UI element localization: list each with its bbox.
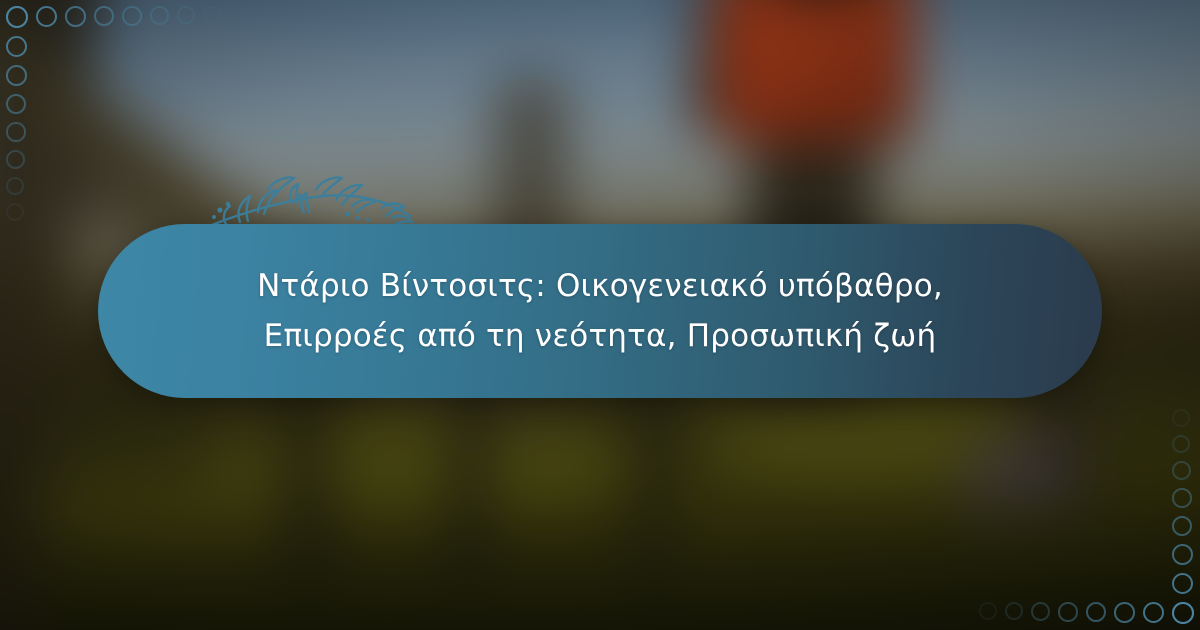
- circle-outline-icon: [177, 6, 195, 24]
- dots-left-column: [6, 6, 28, 221]
- circle-outline-icon: [1005, 602, 1023, 620]
- circle-outline-icon: [6, 122, 26, 142]
- circle-outline-icon: [1172, 435, 1190, 453]
- circle-outline-icon: [6, 65, 27, 86]
- dots-right-column: [1172, 409, 1194, 624]
- circle-outline-icon: [1143, 602, 1164, 623]
- circle-outline-icon: [1172, 516, 1192, 536]
- circle-outline-icon: [122, 6, 142, 26]
- circle-outline-icon: [1172, 461, 1191, 480]
- circle-outline-icon: [6, 6, 28, 28]
- circle-outline-icon: [6, 177, 24, 195]
- circle-outline-icon: [1172, 602, 1194, 624]
- dots-bottom-row: [979, 602, 1194, 624]
- circle-outline-icon: [1172, 544, 1193, 565]
- dots-top-row: [6, 6, 221, 28]
- page-title: Ντάριο Βίντοσιτς: Οικογενειακό υπόβαθρο,…: [160, 261, 1040, 361]
- title-banner: Ντάριο Βίντοσιτς: Οικογενειακό υπόβαθρο,…: [98, 224, 1102, 398]
- circle-outline-icon: [979, 602, 997, 620]
- circle-outline-icon: [1114, 602, 1135, 623]
- circle-outline-icon: [94, 6, 114, 26]
- banner-canvas: Ντάριο Βίντοσιτς: Οικογενειακό υπόβαθρο,…: [0, 0, 1200, 630]
- circle-outline-icon: [1058, 602, 1078, 622]
- circle-outline-icon: [1172, 573, 1193, 594]
- circle-outline-icon: [6, 94, 26, 114]
- circle-outline-icon: [36, 6, 57, 27]
- circle-outline-icon: [1172, 409, 1190, 427]
- circle-outline-icon: [150, 6, 169, 25]
- circle-outline-icon: [203, 6, 221, 24]
- circle-outline-icon: [1086, 602, 1106, 622]
- circle-outline-icon: [6, 36, 27, 57]
- circle-outline-icon: [1172, 488, 1192, 508]
- circle-outline-icon: [1031, 602, 1050, 621]
- circle-outline-icon: [65, 6, 86, 27]
- circle-outline-icon: [6, 203, 24, 221]
- circle-outline-icon: [6, 150, 25, 169]
